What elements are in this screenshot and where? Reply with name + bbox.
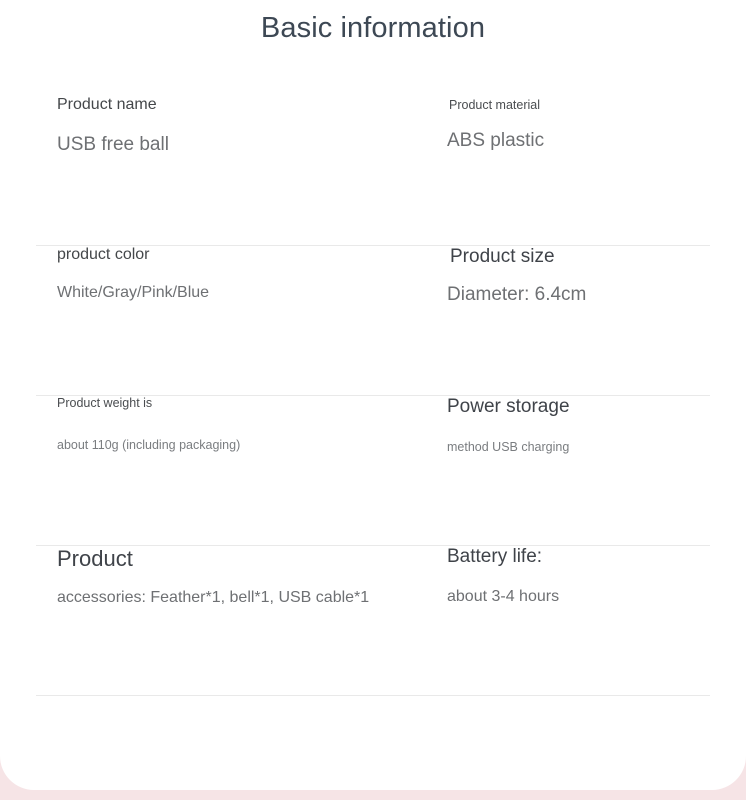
info-card: Basic information Product name USB free … bbox=[0, 0, 746, 790]
table-row: Product accessories: Feather*1, bell*1, … bbox=[36, 546, 710, 696]
spec-value: about 110g (including packaging) bbox=[57, 438, 240, 452]
spec-value: accessories: Feather*1, bell*1, USB cabl… bbox=[57, 589, 369, 607]
row-divider bbox=[36, 695, 710, 696]
spec-value: ABS plastic bbox=[447, 130, 544, 152]
table-row: Product name USB free ball Product mater… bbox=[36, 96, 710, 246]
spec-label: Product bbox=[57, 546, 133, 572]
spec-label: Product material bbox=[449, 98, 540, 112]
spec-label: Product name bbox=[57, 96, 157, 114]
spec-value: USB free ball bbox=[57, 134, 169, 156]
spec-label: Power storage bbox=[447, 396, 570, 418]
page-title: Basic information bbox=[0, 12, 746, 45]
spec-label: Battery life: bbox=[447, 546, 542, 568]
spec-value: method USB charging bbox=[447, 440, 569, 454]
spec-value: White/Gray/Pink/Blue bbox=[57, 284, 209, 302]
table-row: product color White/Gray/Pink/Blue Produ… bbox=[36, 246, 710, 396]
spec-label: Product size bbox=[450, 246, 555, 268]
spec-label: Product weight is bbox=[57, 396, 152, 410]
table-row: Product weight is about 110g (including … bbox=[36, 396, 710, 546]
spec-label: product color bbox=[57, 246, 150, 264]
spec-value: Diameter: 6.4cm bbox=[447, 284, 586, 306]
spec-value: about 3-4 hours bbox=[447, 588, 559, 606]
